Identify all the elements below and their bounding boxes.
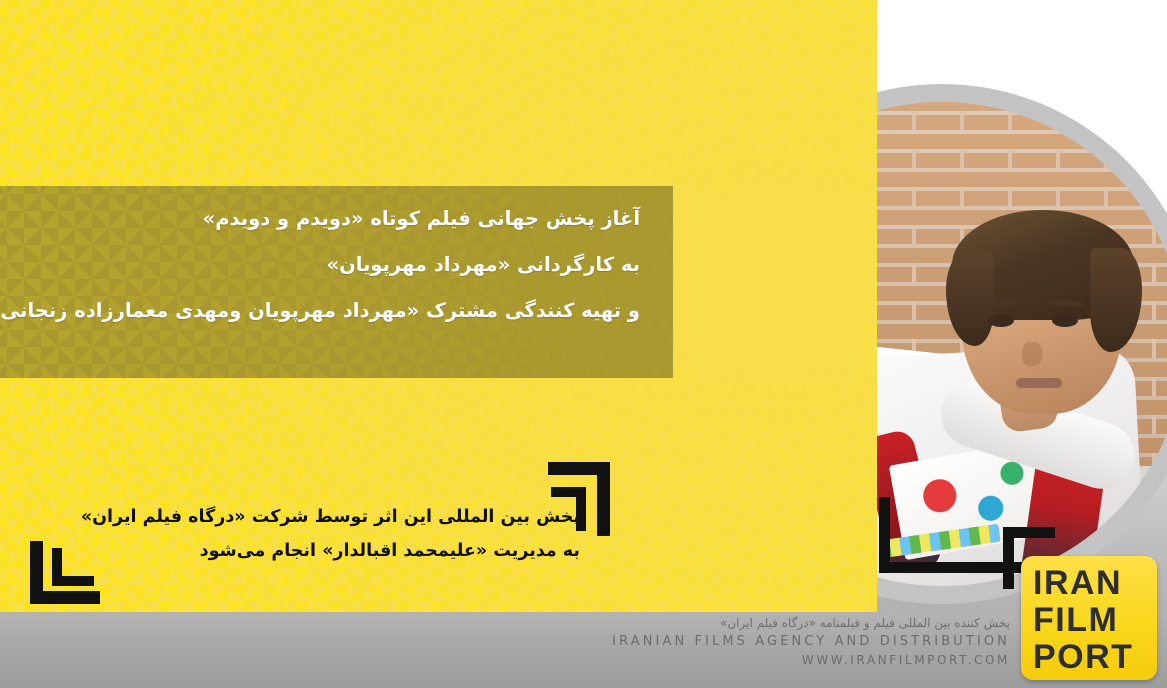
bracket-corner-bottom-left-inner-icon [52, 576, 94, 586]
footer-english-tagline: IRANIAN FILMS AGENCY AND DISTRIBUTION [0, 632, 1010, 651]
headline-line-1: آغاز پخش جهانی فیلم کوتاه «دویدم و دویدم… [0, 196, 640, 242]
boy-hair [952, 210, 1134, 320]
subline-text: پخش بین المللی این اثر توسط شرکت «درگاه … [0, 500, 600, 568]
iran-film-port-logo[interactable]: IRAN FILM PORT [1021, 556, 1157, 680]
headline-line-3: و تهیه کنندگی مشترک «مهرداد مهرپویان ومه… [0, 288, 640, 334]
subline-line-2: به مدیریت «علیمحمد اقبالدار» انجام می‌شو… [0, 534, 580, 568]
logo-line-port: PORT [1033, 639, 1157, 676]
boy-mouth [1016, 378, 1062, 388]
headline-text: آغاز پخش جهانی فیلم کوتاه «دویدم و دویدم… [0, 196, 660, 334]
poster-canvas: آغاز پخش جهانی فیلم کوتاه «دویدم و دویدم… [0, 0, 1167, 688]
footer-website[interactable]: WWW.IRANFILMPORT.COM [0, 651, 1010, 669]
footer: پخش کننده بین المللی فیلم و فیلمنامه «در… [0, 614, 1010, 688]
logo-line-iran: IRAN [1033, 565, 1157, 602]
logo-line-film: FILM [1033, 602, 1157, 639]
subline-line-1: پخش بین المللی این اثر توسط شرکت «درگاه … [0, 500, 580, 534]
bracket-logo-frame-right-icon [1003, 527, 1055, 538]
bracket-corner-bottom-left-icon [30, 591, 100, 604]
headline-line-2: به کارگردانی «مهرداد مهرپویان» [0, 242, 640, 288]
footer-persian-tagline: پخش کننده بین المللی فیلم و فیلمنامه «در… [0, 614, 1010, 632]
boy-eye-right [1052, 314, 1078, 327]
boy-nose [1022, 342, 1042, 366]
boy-eye-left [988, 314, 1014, 327]
